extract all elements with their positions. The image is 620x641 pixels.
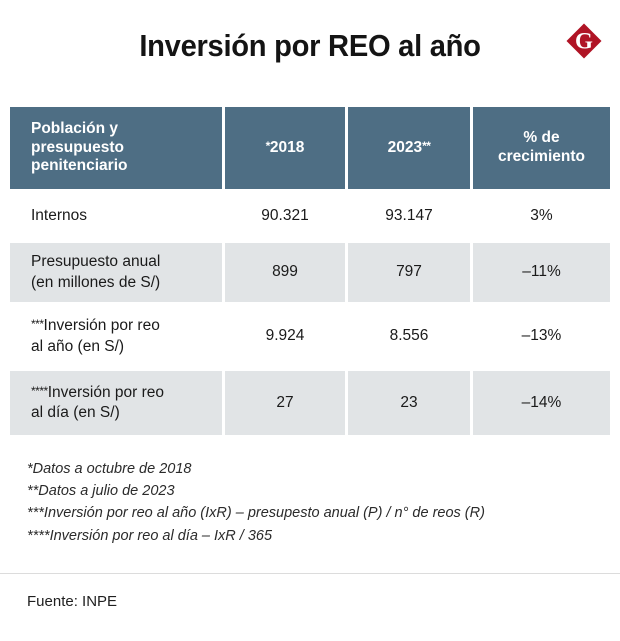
row-label-inversion-anual-line1: Inversión por reo — [44, 317, 160, 334]
infographic-root: Inversión por REO al año G Población y p… — [0, 0, 620, 641]
row-label-internos: Internos — [10, 192, 222, 240]
title-bar: Inversión por REO al año G — [0, 0, 620, 96]
column-header-growth-line2: crecimiento — [498, 148, 585, 167]
cell-internos-growth: 3% — [473, 192, 610, 240]
cell-inversion-diaria-2018: 27 — [225, 371, 345, 435]
cell-inversion-anual-2023: 8.556 — [348, 305, 470, 368]
footer-divider — [0, 573, 620, 574]
row-label-inversion-anual-line2: al año (en S/) — [31, 337, 160, 357]
cell-inversion-anual-growth: –13% — [473, 305, 610, 368]
row-label-inversion-anual: ***Inversión por reo al año (en S/) — [10, 305, 222, 368]
table-row: ***Inversión por reo al año (en S/) 9.92… — [10, 305, 610, 368]
cell-inversion-diaria-growth: –14% — [473, 371, 610, 435]
row-label-presupuesto-anual: Presupuesto anual (en millones de S/) — [10, 243, 222, 302]
column-header-category-line3: penitenciario — [31, 157, 127, 176]
row-marker-inversion-diaria: **** — [31, 384, 48, 398]
svg-text:G: G — [575, 29, 593, 54]
cell-inversion-anual-2018: 9.924 — [225, 305, 345, 368]
row-marker-inversion-anual: *** — [31, 317, 44, 331]
cell-presupuesto-anual-2018: 899 — [225, 243, 345, 302]
column-header-2023-label: 2023 — [388, 139, 422, 156]
column-header-2023-marker: ** — [422, 139, 430, 153]
footnote-3: ***Inversión por reo al año (IxR) – pres… — [27, 502, 597, 524]
cell-presupuesto-anual-growth: –11% — [473, 243, 610, 302]
row-label-presupuesto-anual-line2: (en millones de S/) — [31, 273, 160, 293]
column-header-2023: 2023** — [348, 107, 470, 189]
column-header-2018-label: 2018 — [270, 139, 304, 156]
table-header-row: Población y presupuesto penitenciario *2… — [10, 107, 610, 189]
footnote-1: *Datos a octubre de 2018 — [27, 458, 597, 480]
cell-internos-2023: 93.147 — [348, 192, 470, 240]
page-title: Inversión por REO al año — [19, 28, 602, 64]
row-label-inversion-diaria: ****Inversión por reo al día (en S/) — [10, 371, 222, 435]
column-header-category: Población y presupuesto penitenciario — [10, 107, 222, 189]
row-label-inversion-diaria-line1: Inversión por reo — [48, 384, 164, 401]
table-row: Internos 90.321 93.147 3% — [10, 192, 610, 240]
row-label-inversion-diaria-line2: al día (en S/) — [31, 403, 164, 423]
gestion-g-logo: G — [565, 22, 603, 60]
row-label-internos-line1: Internos — [31, 207, 87, 224]
column-header-growth-line1: % de — [498, 129, 585, 148]
table-row: ****Inversión por reo al día (en S/) 27 … — [10, 371, 610, 435]
footnote-4: ****Inversión por reo al día – IxR / 365 — [27, 525, 597, 547]
data-table: Población y presupuesto penitenciario *2… — [10, 107, 610, 438]
column-header-category-line2: presupuesto — [31, 139, 127, 158]
cell-internos-2018: 90.321 — [225, 192, 345, 240]
footnotes: *Datos a octubre de 2018 **Datos a julio… — [27, 458, 597, 547]
source-label: Fuente: INPE — [27, 593, 117, 610]
row-label-presupuesto-anual-line1: Presupuesto anual — [31, 253, 160, 270]
footnote-2: **Datos a julio de 2023 — [27, 480, 597, 502]
column-header-category-line1: Población y — [31, 120, 127, 139]
column-header-2018: *2018 — [225, 107, 345, 189]
cell-presupuesto-anual-2023: 797 — [348, 243, 470, 302]
table-row: Presupuesto anual (en millones de S/) 89… — [10, 243, 610, 302]
cell-inversion-diaria-2023: 23 — [348, 371, 470, 435]
column-header-growth: % de crecimiento — [473, 107, 610, 189]
